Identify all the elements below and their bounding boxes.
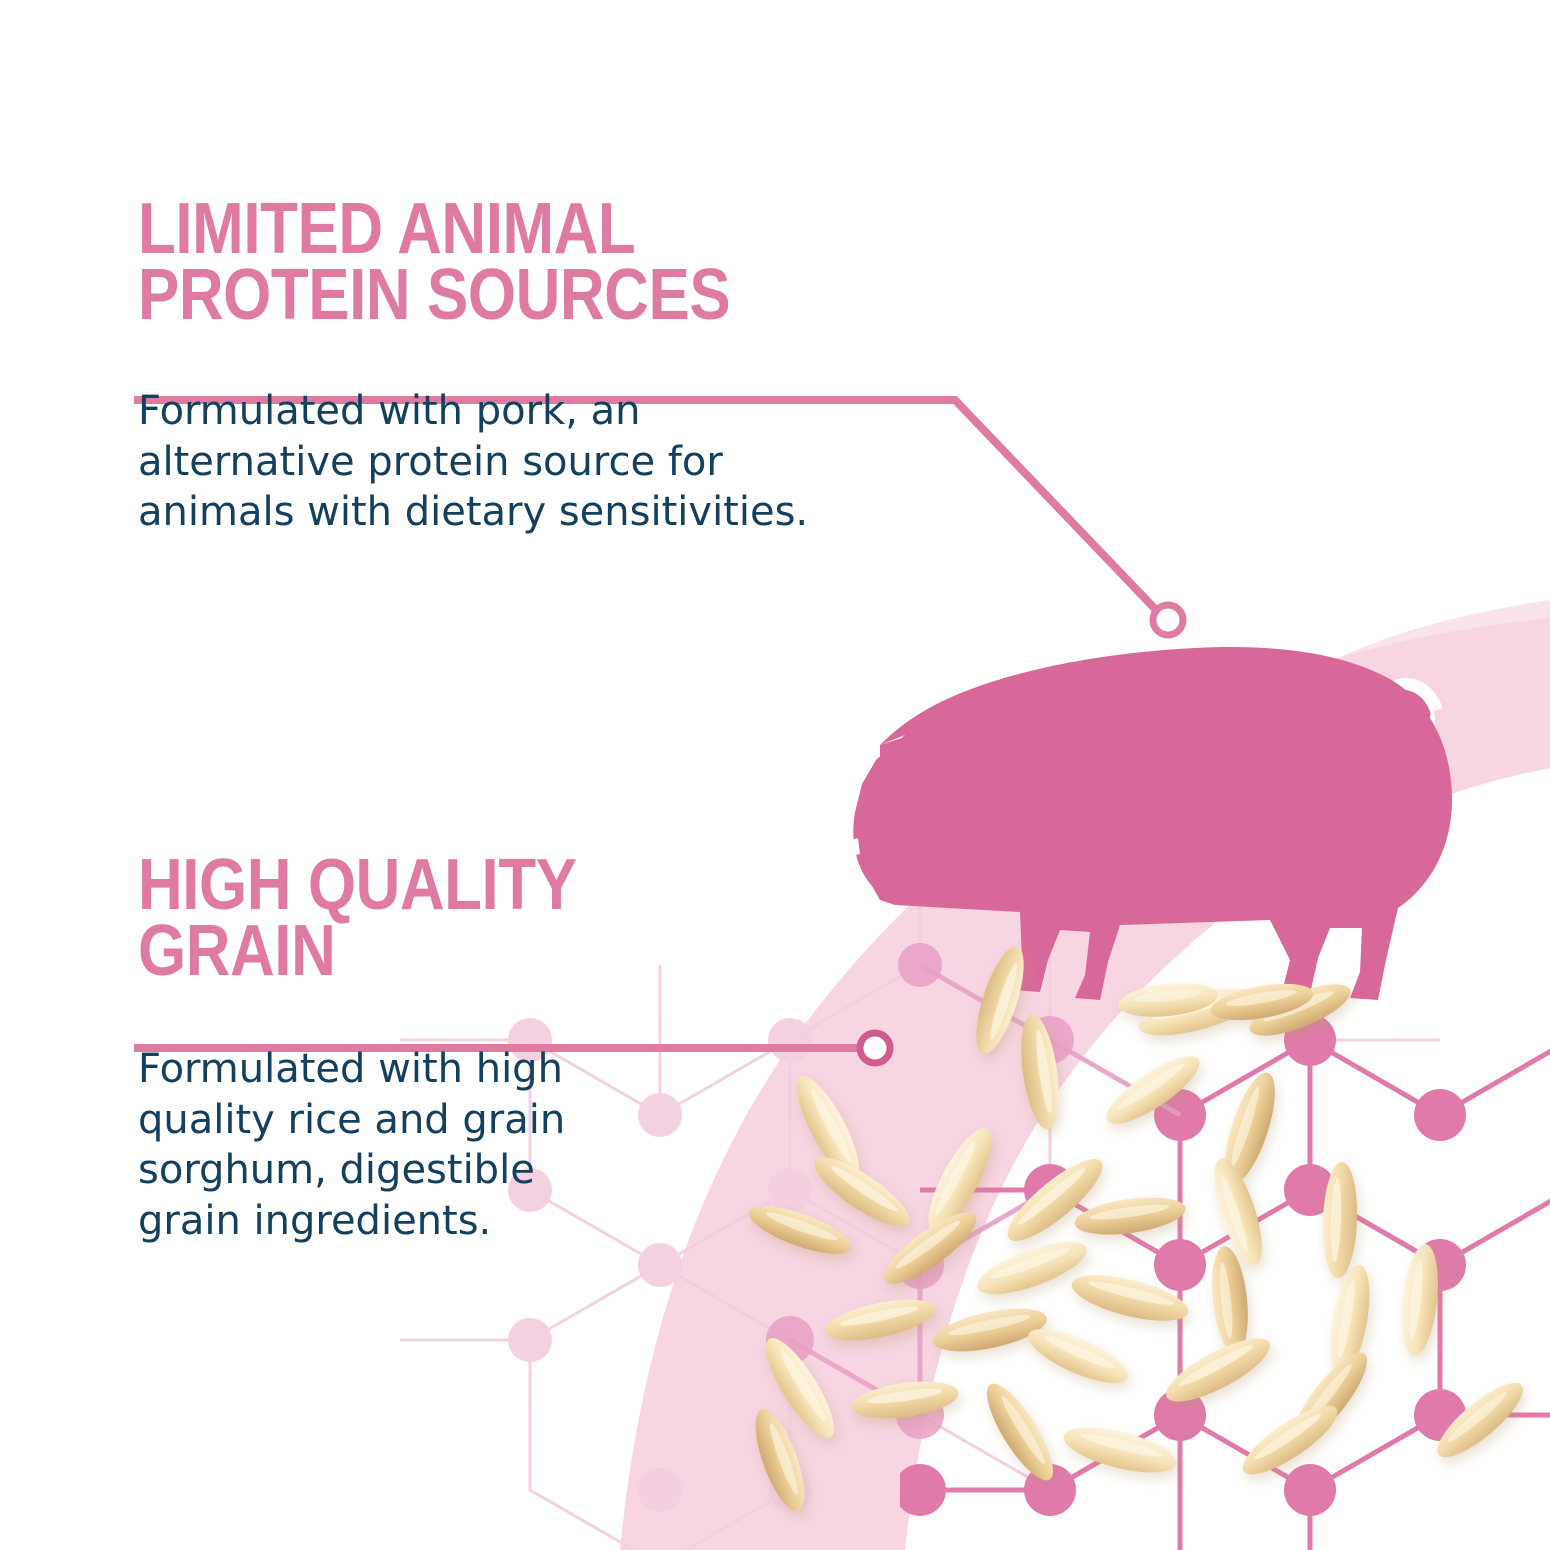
feature-limited-animal-protein: LIMITED ANIMAL PROTEIN SOURCES Formulate… xyxy=(138,196,1038,538)
feature-title-high-quality-grain: HIGH QUALITY GRAIN xyxy=(138,852,809,984)
feature-title-limited-animal-protein: LIMITED ANIMAL PROTEIN SOURCES xyxy=(138,196,912,328)
feature-body-high-quality-grain: Formulated with high quality rice and gr… xyxy=(138,1044,918,1246)
feature-body-limited-animal-protein: Formulated with pork, an alternative pro… xyxy=(138,386,1038,537)
infographic-canvas: LIMITED ANIMAL PROTEIN SOURCES Formulate… xyxy=(0,0,1550,1550)
feature-high-quality-grain: HIGH QUALITY GRAIN Formulated with high … xyxy=(138,852,918,1246)
